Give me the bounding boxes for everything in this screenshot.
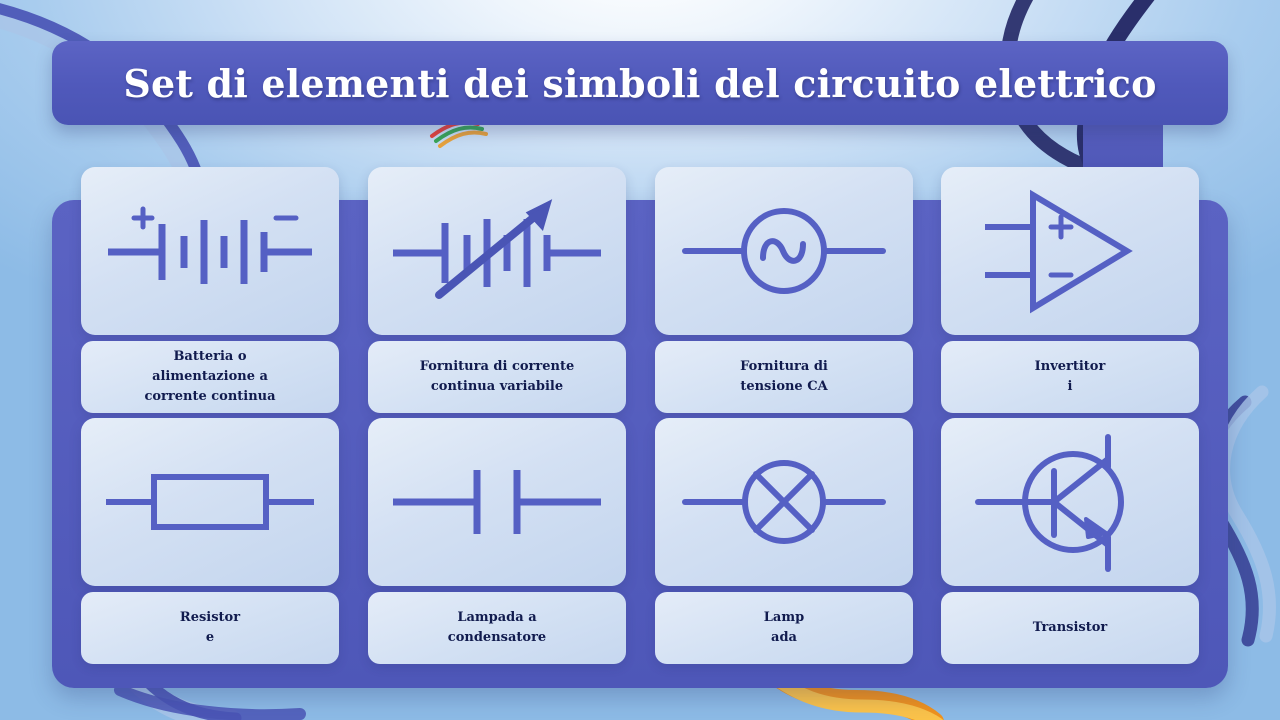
symbol-cell-inverter[interactable]: Invertitor i xyxy=(941,167,1199,413)
symbol-label-card-transistor: Transistor xyxy=(941,592,1199,664)
symbol-label-transistor: Transistor xyxy=(1033,618,1108,638)
symbol-label-card-capacitor: Lampada a condensatore xyxy=(368,592,626,664)
symbol-cell-capacitor[interactable]: Lampada a condensatore xyxy=(368,418,626,664)
inverter-amplifier-symbol xyxy=(975,189,1165,314)
symbol-cell-lamp[interactable]: Lamp ada xyxy=(655,418,913,664)
variable-dc-supply-symbol xyxy=(387,191,607,311)
symbol-card-battery[interactable] xyxy=(81,167,339,335)
capacitor-symbol xyxy=(387,455,607,550)
title-bar: Set di elementi dei simboli del circuito… xyxy=(52,41,1228,125)
symbol-label-card-battery: Batteria o alimentazione a corrente cont… xyxy=(81,341,339,413)
symbol-label-ac-voltage: Fornitura di tensione CA xyxy=(740,357,828,397)
symbol-label-card-inverter: Invertitor i xyxy=(941,341,1199,413)
lamp-symbol xyxy=(679,447,889,557)
resistor-symbol xyxy=(100,455,320,550)
symbol-cell-variable-dc[interactable]: Fornitura di corrente continua variabile xyxy=(368,167,626,413)
symbol-card-ac-voltage[interactable] xyxy=(655,167,913,335)
symbol-card-inverter[interactable] xyxy=(941,167,1199,335)
symbol-card-transistor[interactable] xyxy=(941,418,1199,586)
symbol-card-variable-dc[interactable] xyxy=(368,167,626,335)
symbol-card-lamp[interactable] xyxy=(655,418,913,586)
symbol-label-inverter: Invertitor i xyxy=(1035,357,1106,397)
symbol-label-battery: Batteria o alimentazione a corrente cont… xyxy=(144,347,275,407)
slide-canvas: Set di elementi dei simboli del circuito… xyxy=(0,0,1280,720)
npn-transistor-symbol xyxy=(970,427,1170,577)
symbol-label-card-lamp: Lamp ada xyxy=(655,592,913,664)
symbol-cell-transistor[interactable]: Transistor xyxy=(941,418,1199,664)
page-title: Set di elementi dei simboli del circuito… xyxy=(123,61,1156,106)
ac-voltage-source-symbol xyxy=(679,196,889,306)
symbol-label-card-ac-voltage: Fornitura di tensione CA xyxy=(655,341,913,413)
symbol-label-resistor: Resistor e xyxy=(180,608,240,648)
battery-dc-power-symbol xyxy=(100,196,320,306)
symbol-label-card-resistor: Resistor e xyxy=(81,592,339,664)
symbol-label-variable-dc: Fornitura di corrente continua variabile xyxy=(420,357,575,397)
symbol-cell-battery[interactable]: Batteria o alimentazione a corrente cont… xyxy=(81,167,339,413)
symbol-cell-ac-voltage[interactable]: Fornitura di tensione CA xyxy=(655,167,913,413)
symbol-label-lamp: Lamp ada xyxy=(764,608,804,648)
symbol-label-capacitor: Lampada a condensatore xyxy=(448,608,546,648)
symbol-cell-resistor[interactable]: Resistor e xyxy=(81,418,339,664)
symbol-label-card-variable-dc: Fornitura di corrente continua variabile xyxy=(368,341,626,413)
symbol-card-resistor[interactable] xyxy=(81,418,339,586)
symbol-card-capacitor[interactable] xyxy=(368,418,626,586)
